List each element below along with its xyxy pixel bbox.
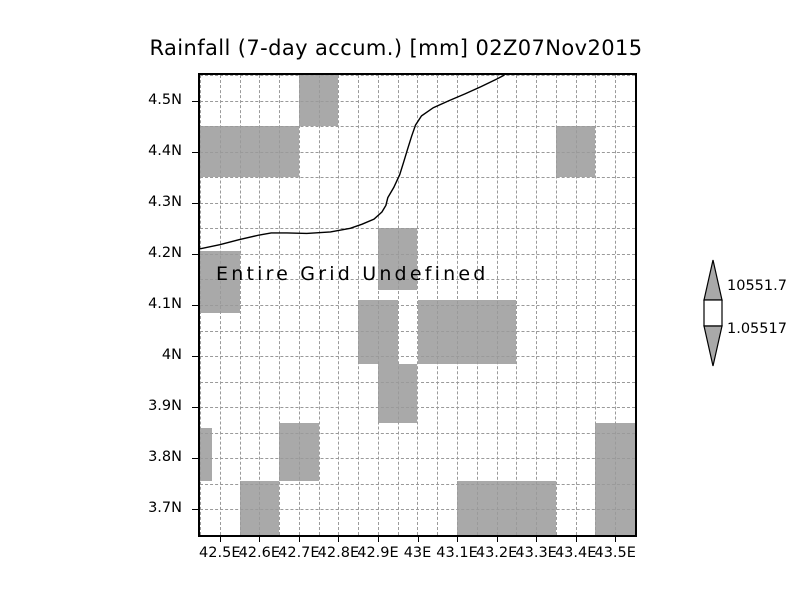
undefined-cell-block [200,428,212,482]
gridline-horizontal [200,152,635,153]
y-axis-tick [192,254,198,255]
x-axis-tick [576,536,577,542]
x-axis-tick [418,536,419,542]
y-axis-tick [192,509,198,510]
x-axis-tick [259,536,260,542]
y-axis-tick-label: 4.5N [120,92,182,108]
colorbar-high-value: 10551.7 [727,278,787,294]
gridline-horizontal [200,203,635,204]
gridline-horizontal [200,126,635,127]
colorbar-low-value: 1.05517 [727,321,787,337]
gridline-horizontal [200,75,635,76]
gridline-horizontal [200,356,635,357]
gridline-horizontal [200,254,635,255]
colorbar-legend: 10551.7 1.05517 [700,258,790,368]
gridline-horizontal [200,433,635,434]
y-axis-tick [192,152,198,153]
y-axis-tick [192,356,198,357]
gridline-horizontal [200,382,635,383]
y-axis-tick [192,305,198,306]
y-axis-tick [192,458,198,459]
gridline-horizontal [200,228,635,229]
x-axis-tick [457,536,458,542]
gridline-horizontal [200,407,635,408]
x-axis-tick [615,536,616,542]
gridline-horizontal [200,331,635,332]
plot-canvas [200,75,635,535]
gridline-horizontal [200,509,635,510]
x-axis-tick [299,536,300,542]
y-axis-tick-label: 4.1N [120,296,182,312]
gridline-horizontal [200,177,635,178]
y-axis-tick [192,101,198,102]
y-axis-tick-label: 4N [120,347,182,363]
y-axis-tick-label: 4.3N [120,194,182,210]
gridline-horizontal [200,305,635,306]
y-axis-tick-label: 4.2N [120,245,182,261]
x-axis-tick [536,536,537,542]
gridline-vertical [635,75,636,535]
gridline-horizontal [200,458,635,459]
colorbar-shape [700,258,726,368]
x-axis-tick-label: 43.5E [587,545,643,561]
gridline-horizontal [200,484,635,485]
y-axis-tick-label: 3.8N [120,449,182,465]
y-axis-tick-label: 4.4N [120,143,182,159]
page-title: Rainfall (7-day accum.) [mm] 02Z07Nov201… [0,36,792,60]
grads-plot-page: Rainfall (7-day accum.) [mm] 02Z07Nov201… [0,0,792,612]
x-axis-tick [378,536,379,542]
x-axis-tick [497,536,498,542]
gridline-horizontal [200,101,635,102]
entire-grid-undefined-message: Entire Grid Undefined [216,263,488,285]
x-axis-tick [338,536,339,542]
plot-area [198,73,637,537]
y-axis-tick [192,407,198,408]
y-axis-tick [192,203,198,204]
x-axis-tick [220,536,221,542]
y-axis-tick-label: 3.9N [120,398,182,414]
y-axis-tick-label: 3.7N [120,500,182,516]
